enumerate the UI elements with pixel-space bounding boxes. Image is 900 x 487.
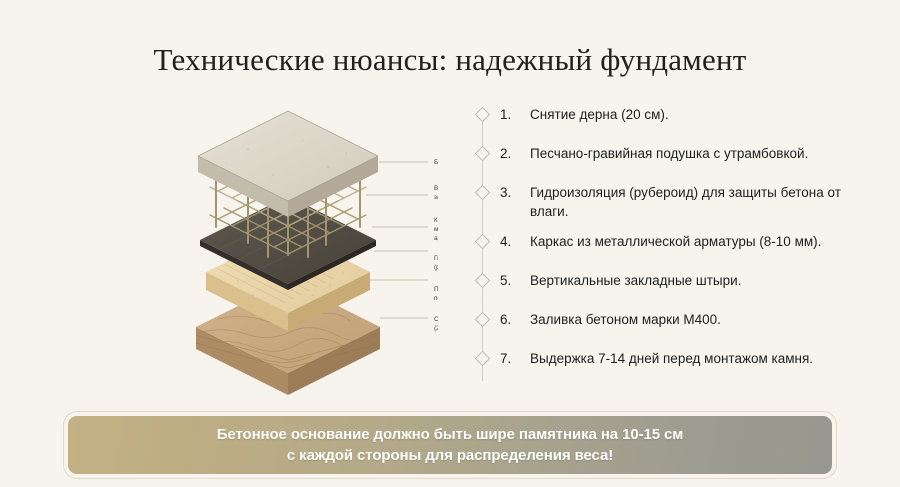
step-number: 4. <box>500 232 530 251</box>
diamond-marker-icon <box>474 273 490 289</box>
caption-sand-gravel-2: подушка <box>434 295 438 302</box>
step-text: Снятие дерна (20 см). <box>530 105 669 124</box>
banner-line-1: Бетонное основание должно быть шире памя… <box>217 424 684 445</box>
caption-vertical-pins-2: закладные штыри <box>434 194 438 201</box>
caption-rebar-cage-3: арматуры <box>434 235 438 242</box>
step-number: 1. <box>500 105 530 124</box>
step-text: Заливка бетоном марки М400. <box>530 310 721 329</box>
step-text: Песчано-гравийная подушка с утрамбовкой. <box>530 144 808 163</box>
step-number: 6. <box>500 310 530 329</box>
step-text: Каркас из металлической арматуры (8-10 м… <box>530 232 821 251</box>
step-item-6[interactable]: 6. Заливка бетоном марки М400. <box>455 310 875 338</box>
diamond-marker-icon <box>474 146 490 162</box>
diagram-captions: Бетонная плита Вертикальные закладные шт… <box>434 159 438 332</box>
step-number: 2. <box>500 144 530 163</box>
step-text: Выдержка 7-14 дней перед монтажом камня. <box>530 349 813 368</box>
banner-line-2: с каждой стороны для распределения веса! <box>287 445 613 466</box>
caption-concrete-slab: Бетонная плита <box>434 159 438 166</box>
diamond-marker-icon <box>474 185 490 201</box>
steps-list: 1. Снятие дерна (20 см). 2. Песчано-грав… <box>455 105 875 395</box>
step-item-7[interactable]: 7. Выдержка 7-14 дней перед монтажом кам… <box>455 349 875 377</box>
step-text: Вертикальные закладные штыри. <box>530 271 741 290</box>
caption-waterproofing-2: (рубероид) <box>434 263 438 271</box>
main-content: Бетонная плита Вертикальные закладные шт… <box>0 105 900 395</box>
highlight-banner: Бетонное основание должно быть шире памя… <box>68 416 832 474</box>
caption-turf-removal-1: Снятие дерна <box>434 316 438 323</box>
step-item-3[interactable]: 3. Гидроизоляция (рубероид) для защиты б… <box>455 183 875 221</box>
caption-turf-removal-2: (20 см) <box>434 325 438 332</box>
foundation-diagram: Бетонная плита Вертикальные закладные шт… <box>98 105 438 395</box>
diamond-marker-icon <box>474 107 490 123</box>
caption-rebar-cage-1: Каркас из <box>434 217 438 224</box>
step-item-2[interactable]: 2. Песчано-гравийная подушка с утрамбовк… <box>455 144 875 172</box>
step-number: 5. <box>500 271 530 290</box>
diamond-marker-icon <box>474 312 490 328</box>
step-item-4[interactable]: 4. Каркас из металлической арматуры (8-1… <box>455 232 875 260</box>
page-title: Технические нюансы: надежный фундамент <box>0 42 900 78</box>
layer-concrete-slab <box>198 111 378 217</box>
step-number: 7. <box>500 349 530 368</box>
caption-vertical-pins-1: Вертикальные <box>434 185 438 192</box>
step-number: 3. <box>500 183 530 202</box>
caption-sand-gravel-1: Песчано-гравийная <box>434 285 438 293</box>
step-text: Гидроизоляция (рубероид) для защиты бето… <box>530 183 875 221</box>
caption-rebar-cage-2: металлической <box>434 225 438 233</box>
foundation-diagram-svg: Бетонная плита Вертикальные закладные шт… <box>98 105 438 395</box>
caption-waterproofing-1: Гидроизоляция <box>434 255 438 262</box>
step-item-5[interactable]: 5. Вертикальные закладные штыри. <box>455 271 875 299</box>
diamond-marker-icon <box>474 351 490 367</box>
diamond-marker-icon <box>474 234 490 250</box>
step-item-1[interactable]: 1. Снятие дерна (20 см). <box>455 105 875 133</box>
